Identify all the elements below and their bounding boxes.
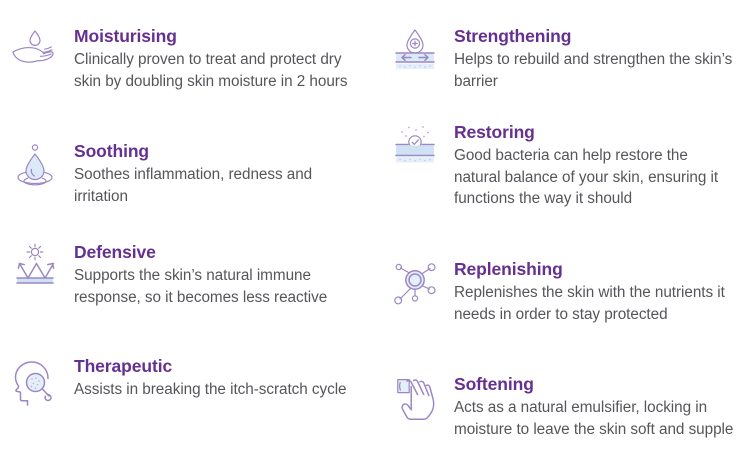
benefit-title: Strengthening [454, 26, 736, 46]
molecule-network-icon [384, 257, 446, 315]
benefit-text: Defensive Supports the skin’s natural im… [66, 238, 356, 308]
benefit-description: Replenishes the skin with the nutrients … [454, 282, 736, 325]
head-magnifier-icon [4, 354, 66, 412]
benefit-description: Acts as a natural emulsifier, locking in… [454, 397, 736, 440]
hand-wipe-icon [384, 372, 446, 430]
benefit-text: Strengthening Helps to rebuild and stren… [446, 22, 736, 92]
benefit-item-strengthening: Strengthening Helps to rebuild and stren… [384, 22, 736, 92]
benefit-title: Defensive [74, 242, 356, 262]
benefit-text: Moisturising Clinically proven to treat … [66, 22, 356, 92]
benefit-text: Softening Acts as a natural emulsifier, … [446, 370, 736, 440]
benefit-item-moisturising: Moisturising Clinically proven to treat … [4, 22, 356, 92]
benefit-title: Soothing [74, 141, 356, 161]
benefit-text: Restoring Good bacteria can help restore… [446, 118, 736, 210]
benefit-title: Softening [454, 374, 736, 394]
sun-shield-skin-icon [4, 240, 66, 298]
benefit-title: Replenishing [454, 259, 736, 279]
benefit-description: Good bacteria can help restore the natur… [454, 145, 736, 210]
benefit-description: Helps to rebuild and strengthen the skin… [454, 49, 736, 92]
benefit-text: Soothing Soothes inflammation, redness a… [66, 137, 356, 207]
benefits-column-right: Strengthening Helps to rebuild and stren… [384, 0, 744, 468]
benefit-text: Therapeutic Assists in breaking the itch… [66, 352, 356, 401]
benefit-title: Moisturising [74, 26, 356, 46]
benefit-title: Therapeutic [74, 356, 356, 376]
benefit-item-restoring: Restoring Good bacteria can help restore… [384, 118, 736, 210]
hand-with-droplet-icon [4, 24, 66, 82]
benefit-description: Assists in breaking the itch-scratch cyc… [74, 379, 356, 401]
benefit-description: Supports the skin’s natural immune respo… [74, 265, 356, 308]
benefit-item-therapeutic: Therapeutic Assists in breaking the itch… [4, 352, 356, 412]
benefit-item-replenishing: Replenishing Replenishes the skin with t… [384, 255, 736, 325]
benefits-column-left: Moisturising Clinically proven to treat … [4, 0, 364, 468]
checkmark-skin-layers-icon [384, 120, 446, 178]
benefit-description: Soothes inflammation, redness and irrita… [74, 164, 356, 207]
benefit-item-softening: Softening Acts as a natural emulsifier, … [384, 370, 736, 440]
benefits-grid: Moisturising Clinically proven to treat … [0, 0, 745, 468]
benefit-item-defensive: Defensive Supports the skin’s natural im… [4, 238, 356, 308]
droplet-shield-skin-layers-icon [384, 24, 446, 82]
benefit-description: Clinically proven to treat and protect d… [74, 49, 356, 92]
benefit-text: Replenishing Replenishes the skin with t… [446, 255, 736, 325]
benefit-title: Restoring [454, 122, 736, 142]
benefit-item-soothing: Soothing Soothes inflammation, redness a… [4, 137, 356, 207]
droplet-ripple-icon [4, 139, 66, 197]
